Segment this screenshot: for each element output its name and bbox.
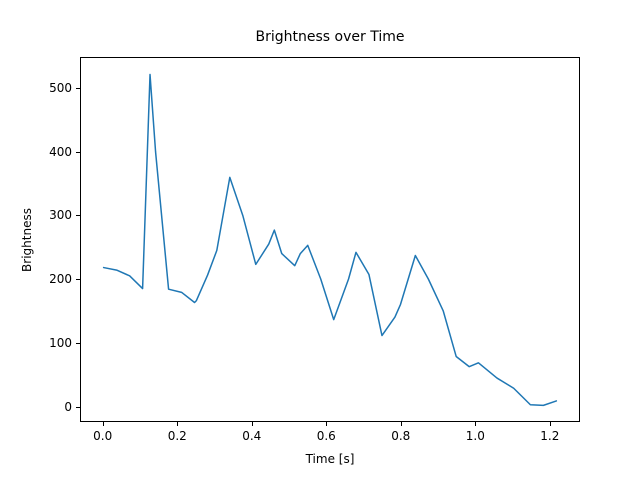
x-tick-mark [252,422,253,426]
x-tick-mark [326,422,327,426]
y-tick-label: 200 [28,272,72,286]
x-tick-mark [550,422,551,426]
x-tick-label: 0.8 [391,429,410,443]
x-tick-mark [475,422,476,426]
y-tick-mark [76,407,80,408]
x-tick-mark [177,422,178,426]
x-tick-mark [103,422,104,426]
y-tick-mark [76,343,80,344]
y-tick-mark [76,152,80,153]
x-tick-mark [401,422,402,426]
x-axis-label: Time [s] [80,452,580,466]
y-tick-mark [76,88,80,89]
plot-area [80,57,580,422]
data-line-brightness [104,75,557,406]
x-tick-label: 0.4 [242,429,261,443]
data-line-svg [81,58,579,421]
y-tick-label: 100 [28,336,72,350]
x-tick-label: 0.2 [168,429,187,443]
y-tick-label: 300 [28,208,72,222]
y-tick-label: 500 [28,81,72,95]
y-tick-mark [76,279,80,280]
chart-figure: Brightness over Time Brightness Time [s]… [0,0,640,480]
x-tick-label: 1.0 [466,429,485,443]
x-tick-label: 1.2 [540,429,559,443]
y-tick-mark [76,215,80,216]
y-tick-label: 400 [28,145,72,159]
y-tick-label: 0 [28,400,72,414]
chart-title: Brightness over Time [80,28,580,46]
x-tick-label: 0.0 [93,429,112,443]
x-tick-label: 0.6 [317,429,336,443]
